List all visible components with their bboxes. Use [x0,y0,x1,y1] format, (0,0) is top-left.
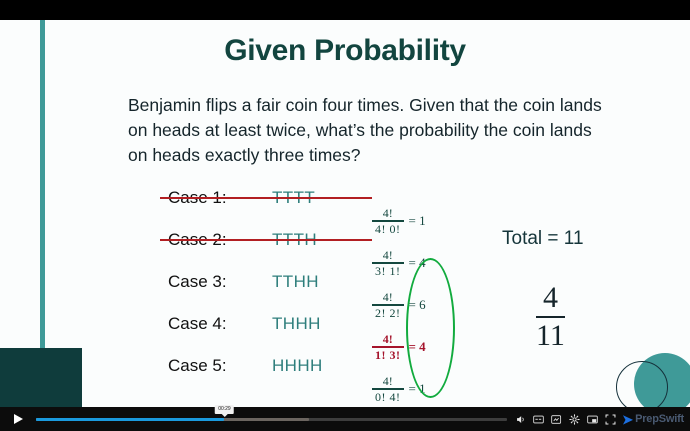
player-controls: 00:29 ➤ PrepSwift [0,407,690,431]
fraction-numerator: 4! [380,249,396,262]
formula-row: 4! 0! 4! = 1 [372,368,426,407]
formula-result: = 4 [409,255,426,271]
fraction-denominator: 0! 4! [372,391,404,404]
prepswift-mark-icon: ➤ [622,413,633,426]
case-label: Case 5: [168,356,227,376]
decorative-accent-line [40,20,45,386]
formula-result: = 6 [409,297,426,313]
letterbox-top [0,0,690,20]
fraction-numerator: 4! [380,291,396,304]
time-tooltip: 00:29 [215,405,234,414]
quality-icon[interactable] [551,414,562,425]
fraction-numerator: 4! [380,375,396,388]
answer-denominator: 11 [536,319,565,352]
case-label: Case 3: [168,272,227,292]
formula-row: 4! 1! 3! = 4 [372,326,426,368]
slide-canvas: Given Probability Benjamin flips a fair … [0,20,690,407]
fullscreen-icon[interactable] [605,414,616,425]
progress-bar[interactable]: 00:29 [36,407,507,431]
player-icon-group [515,414,622,425]
answer-fraction-bar [536,316,565,318]
answer-numerator: 4 [543,281,558,314]
fraction-denominator: 4! 0! [372,223,404,236]
formula-row: 4! 3! 1! = 4 [372,242,426,284]
strikethrough-line [160,239,372,241]
formula-column: 4! 4! 0! = 1 4! 3! 1! = 4 4! 2! 2! [372,200,426,407]
strikethrough-line [160,197,372,199]
fraction-denominator: 3! 1! [372,265,404,278]
final-answer-fraction: 4 11 [536,282,565,353]
fraction: 4! 4! 0! [372,207,404,235]
formula-row: 4! 2! 2! = 6 [372,284,426,326]
brand-name: PrepSwift [635,413,684,425]
decorative-circle-outline [616,361,668,407]
case-sequence: THHH [272,314,321,334]
page-title: Given Probability [0,34,690,68]
case-sequence: HHHH [272,356,323,376]
fraction: 4! 2! 2! [372,291,404,319]
play-button[interactable] [0,407,36,431]
formula-result: = 1 [409,381,426,397]
fraction: 4! 0! 4! [372,375,404,403]
fraction: 4! 3! 1! [372,249,404,277]
fraction-denominator: 1! 3! [372,349,404,362]
picture-in-picture-icon[interactable] [587,414,598,425]
progress-played [36,418,224,421]
decorative-accent-block [0,348,82,407]
formula-result: = 1 [409,213,426,229]
volume-icon[interactable] [515,414,526,425]
case-label: Case 4: [168,314,227,334]
fraction: 4! 1! 3! [372,333,404,361]
captions-icon[interactable] [533,414,544,425]
fraction-denominator: 2! 2! [372,307,404,320]
brand-logo[interactable]: ➤ PrepSwift [622,413,690,426]
progress-track[interactable] [36,418,507,421]
total-label: Total = 11 [502,228,584,250]
fraction-numerator: 4! [380,333,396,346]
formula-result: = 4 [409,339,426,355]
problem-statement: Benjamin flips a fair coin four times. G… [128,93,606,168]
video-player: Given Probability Benjamin flips a fair … [0,0,690,431]
play-icon [14,414,23,424]
formula-row: 4! 4! 0! = 1 [372,200,426,242]
settings-icon[interactable] [569,414,580,425]
case-sequence: TTHH [272,272,319,292]
fraction-numerator: 4! [380,207,396,220]
